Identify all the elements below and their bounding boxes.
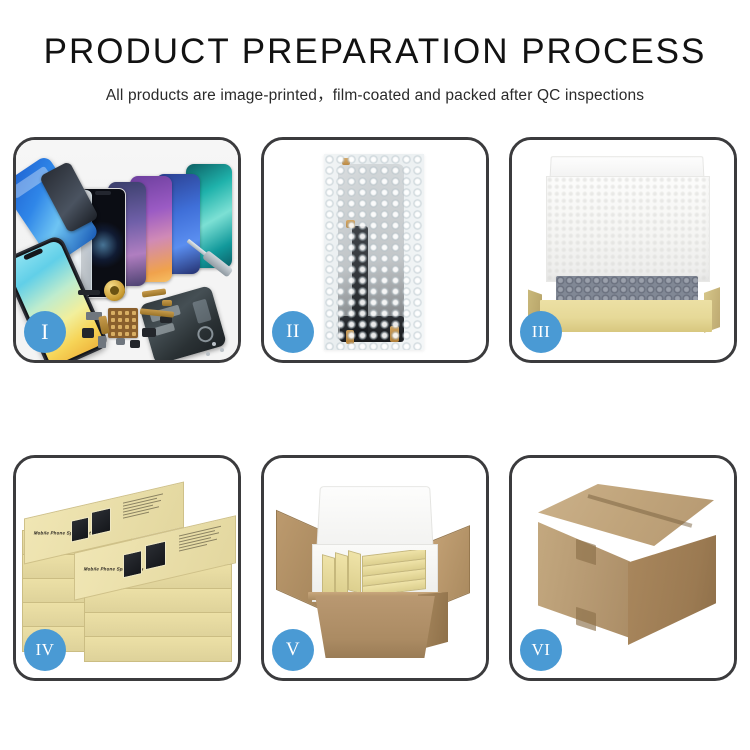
process-step-2[interactable]: II [261,137,489,363]
step-badge-4: IV [24,629,66,671]
carton-right-face [628,535,716,645]
foam-liner-icon [546,176,710,282]
box-window-2a [123,550,142,578]
component-block-3 [142,328,156,337]
step-badge-6: VI [520,629,562,671]
process-step-3[interactable]: III [509,137,737,363]
component-block-5 [116,338,125,345]
box-spec-lines-1 [123,492,167,520]
component-bar-1 [78,290,100,295]
housing-detail-2 [154,323,175,336]
process-step-6[interactable]: VI [509,455,737,681]
yellow-box-3 [348,550,361,594]
bubble-texture [324,154,424,350]
step-badge-3: III [520,311,562,353]
page-header: PRODUCT PREPARATION PROCESS All products… [0,0,750,105]
stacked-box-edge-8 [84,612,232,638]
foam-texture [547,177,709,281]
copper-coil-icon [104,280,125,301]
screw-3 [206,352,210,356]
box-spec-lines-2 [179,525,225,554]
housing-detail-3 [192,299,212,324]
component-block-4 [130,340,140,348]
phone-notch [95,191,111,195]
yellow-boxes-group [320,550,428,594]
step-badge-5: V [272,629,314,671]
component-block-2 [98,336,106,348]
carton-front-face [310,596,440,658]
screw-2 [220,348,224,352]
process-step-1[interactable]: I [13,137,241,363]
housing-camera-ring [196,324,216,344]
box-window-1a [71,516,89,542]
box-front-face [540,300,712,332]
stacked-box-edge-9 [84,636,232,662]
screw-1 [212,342,216,346]
chip-grid-icon [108,308,138,338]
component-block-1 [82,328,94,338]
page-subtitle: All products are image-printed，film-coat… [0,83,750,105]
page-title: PRODUCT PREPARATION PROCESS [0,34,750,69]
box-window-2b [145,540,166,570]
yellow-box-2 [335,552,348,594]
box-window-1b [91,507,111,536]
step-badge-1: I [24,311,66,353]
flex-cable-1 [142,288,167,297]
step-badge-2: II [272,311,314,353]
process-step-5[interactable]: V [261,455,489,681]
bubble-wrap-fill-icon [556,276,698,302]
yellow-box-1 [322,554,335,594]
process-step-grid: I II III [13,137,737,681]
bubble-wrap-bag-icon [324,154,424,350]
process-step-4[interactable]: Mobile Phone Spare Parts Mobile Phone Sp… [13,455,241,681]
flex-cable-4 [162,300,172,306]
